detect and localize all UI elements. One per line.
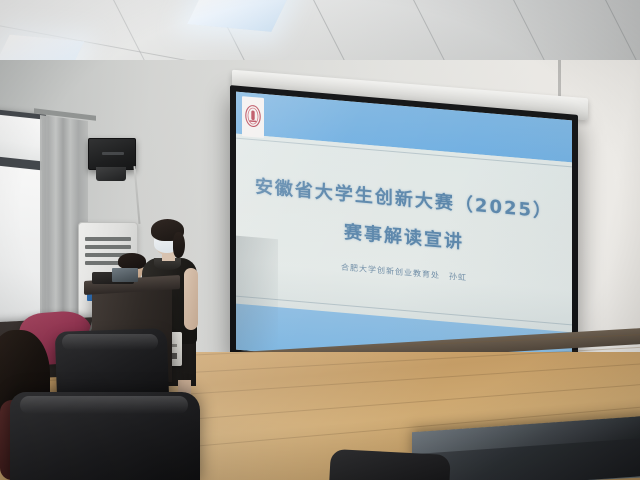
presenter-hair-side <box>173 232 185 258</box>
chair-highlight-lower <box>20 396 188 414</box>
lectern-monitor[interactable] <box>112 268 138 282</box>
screen-shadow <box>236 236 278 354</box>
university-seal-logo <box>242 96 264 138</box>
presenter-arm <box>184 268 198 330</box>
speaker-bracket <box>96 167 126 181</box>
wall-mounted-speaker <box>88 138 136 170</box>
lecture-room-photo: 安徽省大学生创新大赛（2025） 赛事解读宣讲 合肥大学创新创业教育处 孙虹 <box>0 0 640 480</box>
chair-highlight-upper <box>62 334 158 350</box>
chair-far-right[interactable] <box>329 449 451 480</box>
